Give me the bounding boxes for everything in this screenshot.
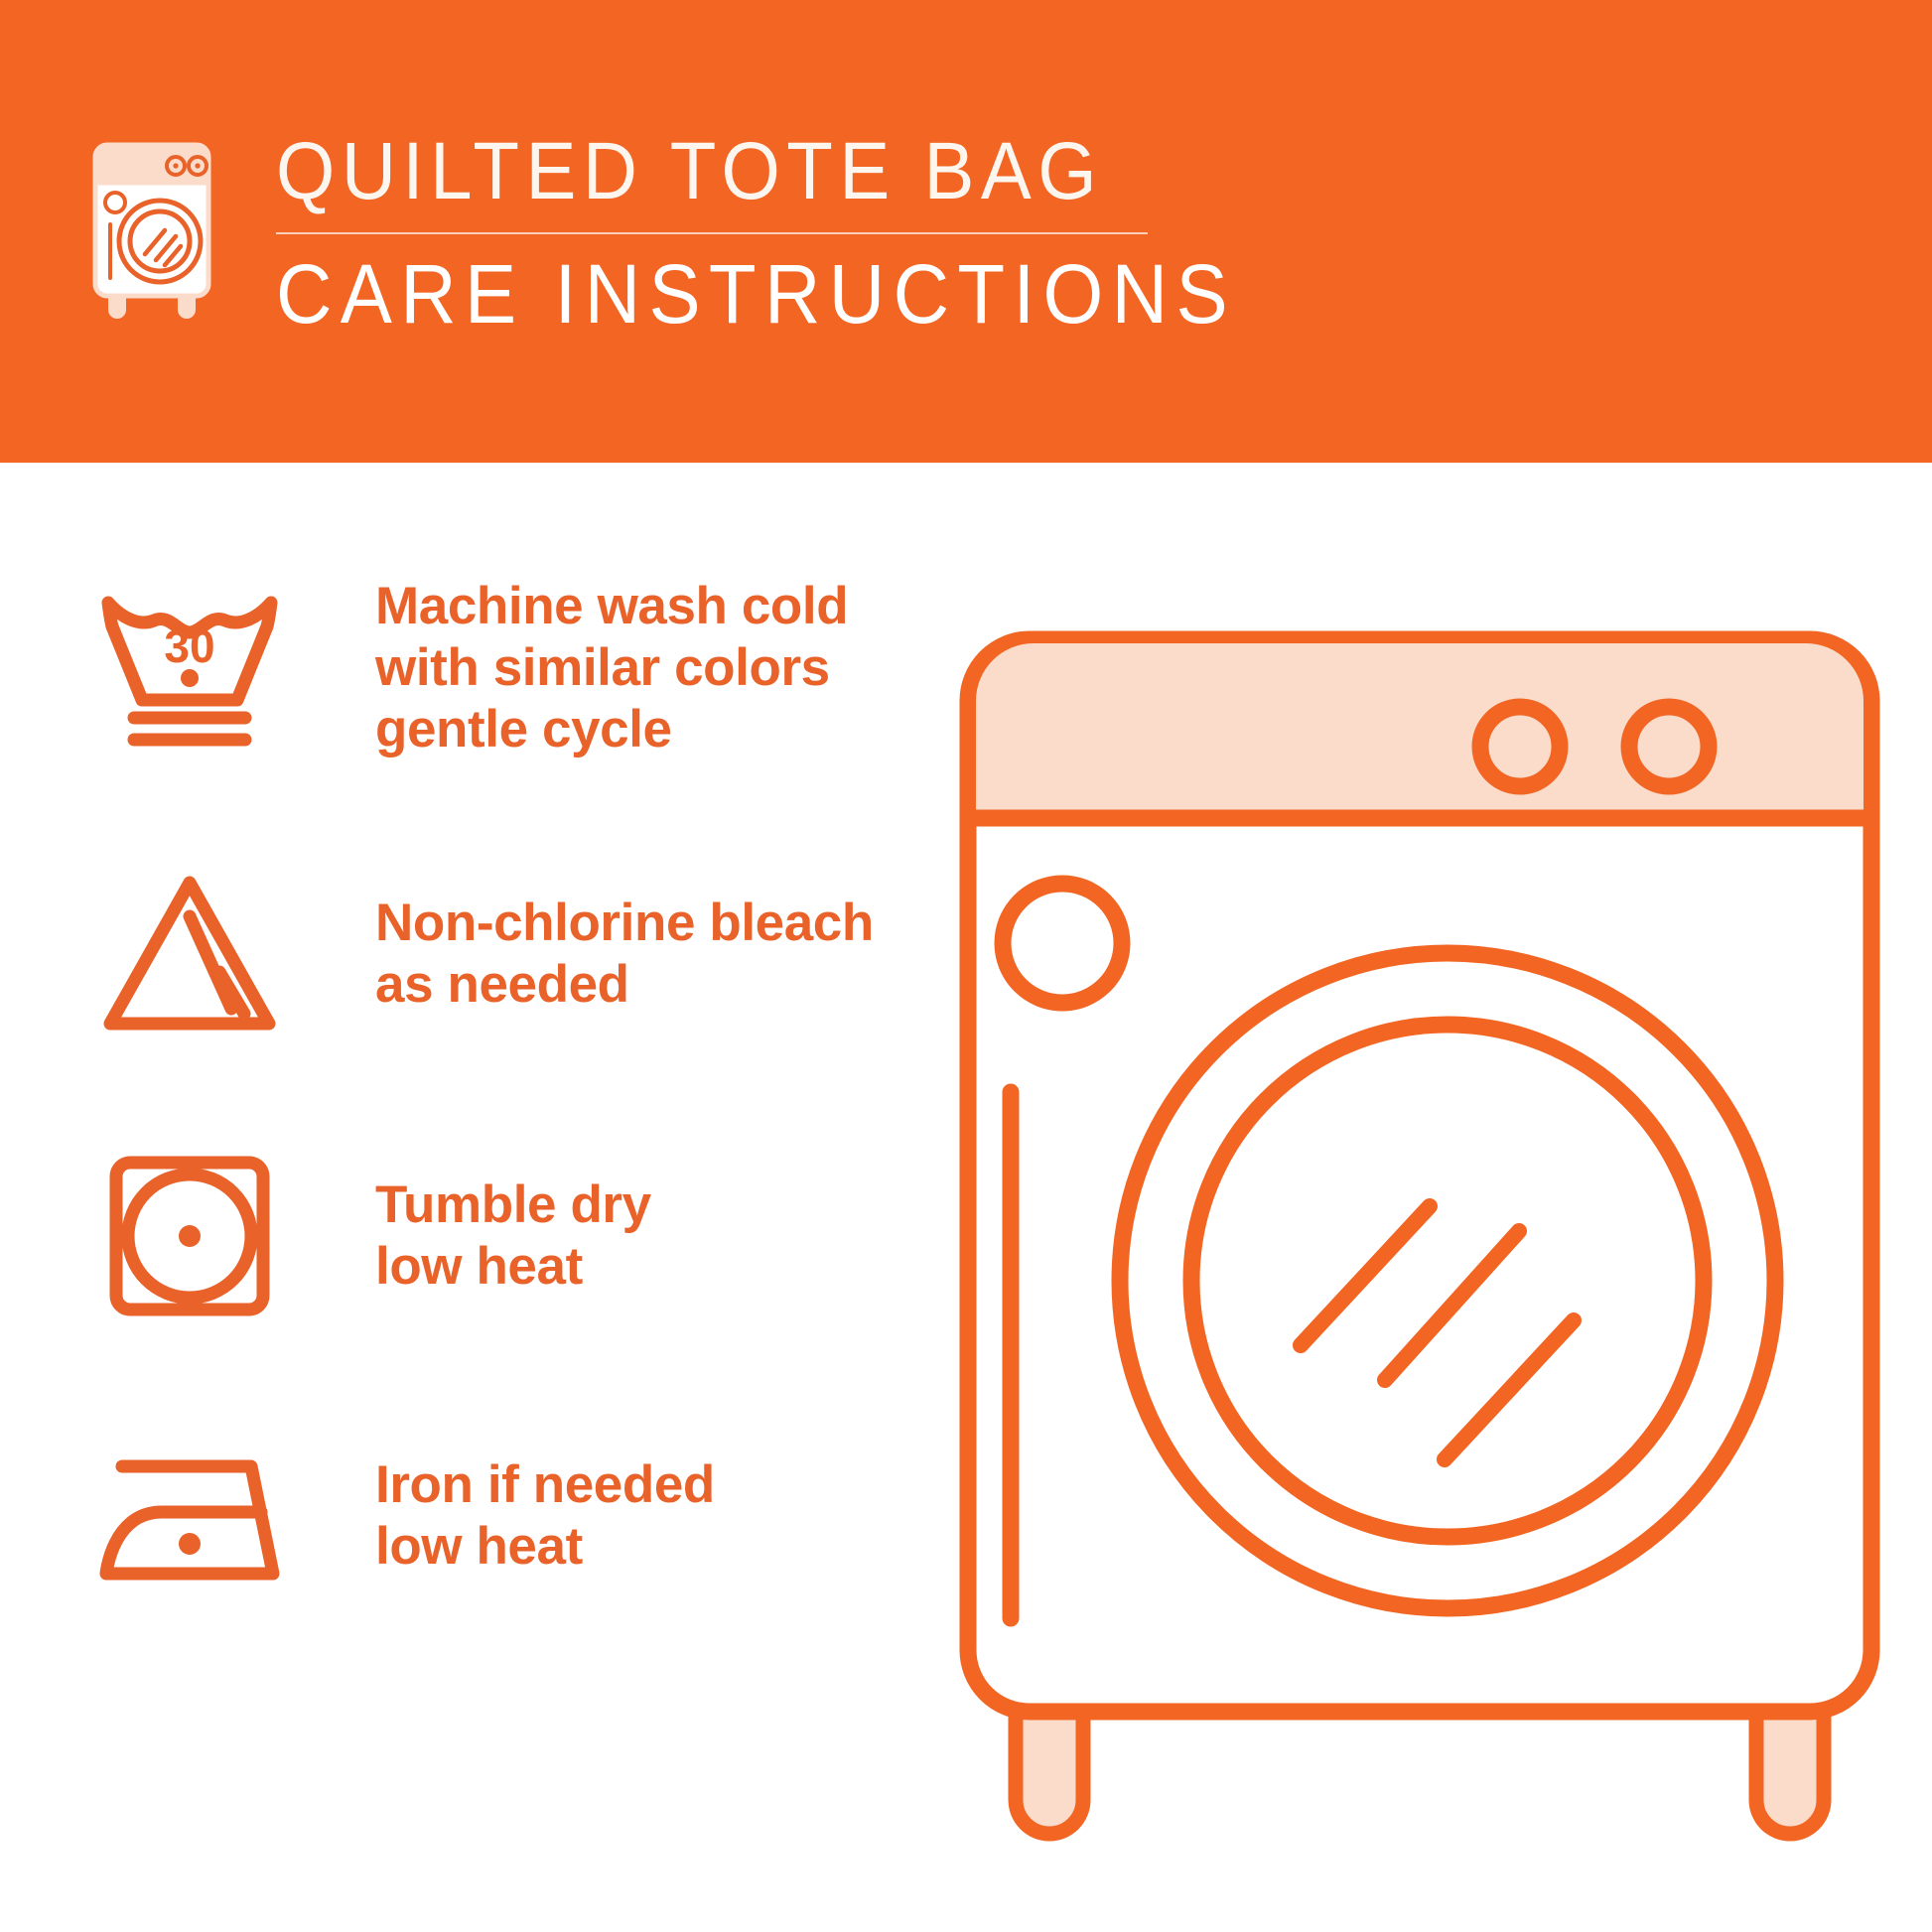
- washing-machine-icon: [77, 137, 226, 321]
- care-line: Tumble dry: [375, 1174, 651, 1236]
- front-load-washing-machine-illustration: [958, 625, 1881, 1876]
- care-line: Iron if needed: [375, 1454, 715, 1516]
- non-chlorine-bleach-triangle-icon: [87, 852, 292, 1056]
- care-line: low heat: [375, 1236, 651, 1298]
- leg-left: [1016, 1703, 1083, 1834]
- title-divider: [276, 232, 1148, 234]
- page-subtitle: CARE INSTRUCTIONS: [276, 248, 1236, 340]
- care-line: low heat: [375, 1516, 715, 1578]
- care-line: with similar colors: [375, 637, 848, 699]
- iron-low-heat-icon: [87, 1414, 292, 1618]
- header-content: QUILTED TOTE BAG CARE INSTRUCTIONS: [77, 127, 1309, 340]
- care-line: Machine wash cold: [375, 576, 848, 637]
- care-row-bleach: Non-chlorine bleach as needed: [87, 852, 874, 1056]
- wash-temperature-label: 30: [164, 621, 214, 672]
- knob-left: [1480, 707, 1560, 786]
- knob-right: [1629, 707, 1709, 786]
- care-row-iron: Iron if needed low heat: [87, 1414, 715, 1618]
- care-label-machine-wash: Machine wash cold with similar colors ge…: [375, 576, 848, 760]
- leg-right: [1756, 1703, 1824, 1834]
- care-row-tumble-dry: Tumble dry low heat: [87, 1134, 651, 1338]
- header-banner: QUILTED TOTE BAG CARE INSTRUCTIONS: [0, 0, 1932, 463]
- care-line: as needed: [375, 954, 874, 1016]
- care-label-bleach: Non-chlorine bleach as needed: [375, 893, 874, 1016]
- care-line: gentle cycle: [375, 699, 848, 760]
- page-title: QUILTED TOTE BAG: [276, 127, 1236, 216]
- care-row-machine-wash: 30 Machine wash cold with similar colors…: [87, 566, 848, 770]
- care-label-iron: Iron if needed low heat: [375, 1454, 715, 1578]
- wash-tub-30-gentle-icon: 30: [87, 566, 292, 770]
- tumble-dry-low-icon: [87, 1134, 292, 1338]
- care-instruction-list: 30 Machine wash cold with similar colors…: [0, 463, 894, 1932]
- care-line: Non-chlorine bleach: [375, 893, 874, 954]
- header-titles: QUILTED TOTE BAG CARE INSTRUCTIONS: [276, 127, 1309, 340]
- care-label-tumble-dry: Tumble dry low heat: [375, 1174, 651, 1298]
